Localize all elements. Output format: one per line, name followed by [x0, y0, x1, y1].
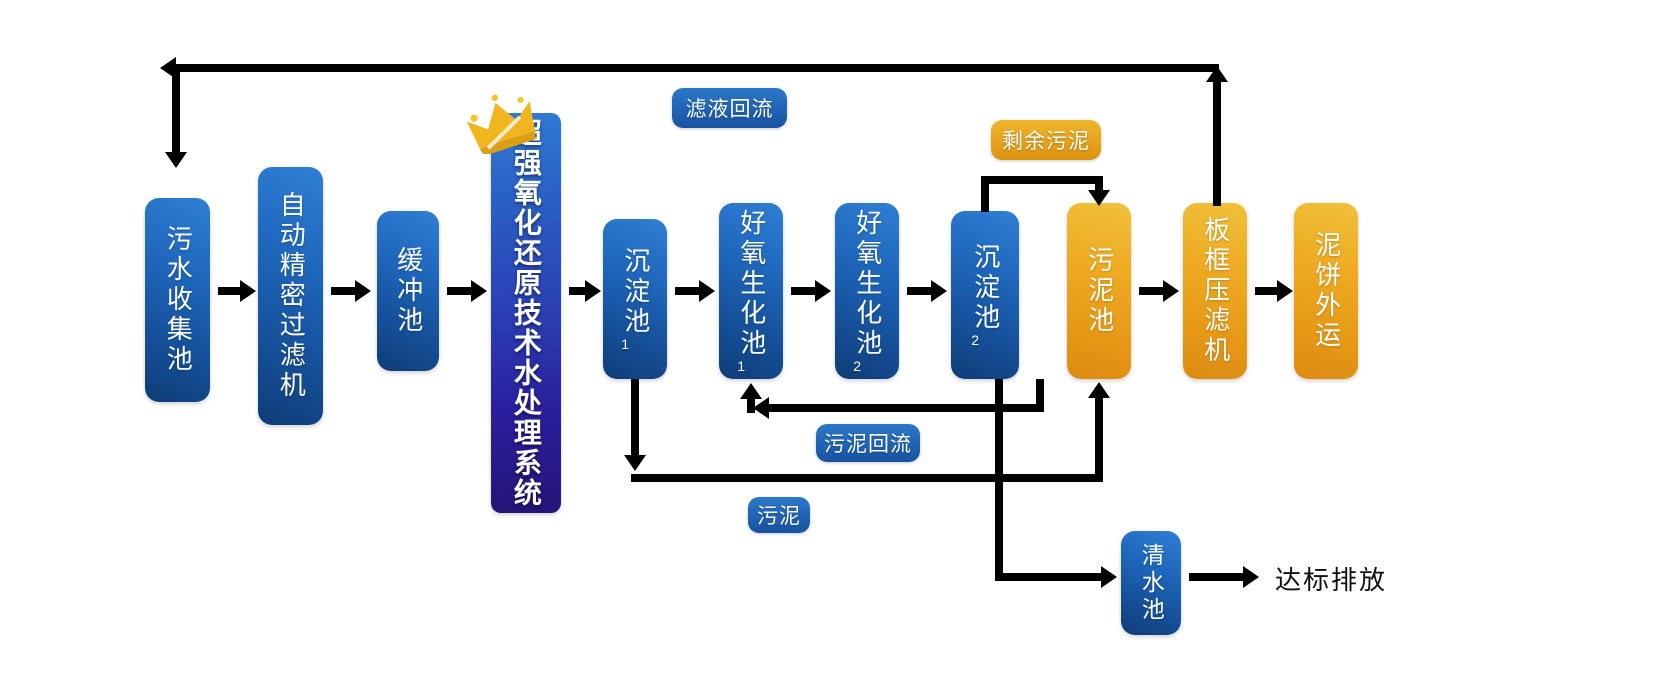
connector-7-8-arrowhead — [931, 280, 947, 302]
excess-sludge-arrowhead — [1088, 190, 1110, 206]
connector-9-10-arrowhead — [1163, 280, 1179, 302]
node-aerobic-biochemical-tank-2-label: 好氧生化池2 — [853, 209, 881, 374]
node-sewage-collection-tank-label: 污水收集池 — [164, 225, 192, 375]
sludge-riser-arrowhead — [1088, 382, 1110, 398]
node-aerobic-biochemical-tank-2-name: 好氧生化池 — [853, 209, 883, 359]
connector-10-11 — [1255, 287, 1279, 295]
label-filtrate-return-text: 滤液回流 — [686, 93, 774, 123]
connector-2-3 — [331, 287, 357, 295]
node-sedimentation-tank-1-name: 沉淀池 — [621, 247, 651, 337]
node-sedimentation-tank-2[interactable]: 沉淀池2 — [951, 211, 1019, 379]
crown-icon — [462, 92, 548, 154]
node-sedimentation-tank-2-label: 沉淀池2 — [971, 243, 999, 348]
discharge-connector — [1189, 573, 1245, 581]
node-sludge-tank-label: 污泥池 — [1085, 246, 1113, 336]
node-sedimentation-tank-1-subscript: 1 — [621, 337, 629, 352]
node-auto-precision-filter-label: 自动精密过滤机 — [277, 191, 305, 401]
sludge-return-left-arrowhead — [753, 397, 769, 419]
label-sludge-return: 污泥回流 — [816, 424, 920, 462]
connector-10-11-arrowhead — [1277, 280, 1293, 302]
label-excess-sludge: 剩余污泥 — [991, 120, 1101, 160]
node-aerobic-biochemical-tank-1-name: 好氧生化池 — [737, 209, 767, 359]
connector-6-7-arrowhead — [815, 280, 831, 302]
node-sedimentation-tank-2-name: 沉淀池 — [971, 243, 1001, 333]
node-aerobic-biochemical-tank-2[interactable]: 好氧生化池2 — [835, 203, 899, 379]
filtrate-return-left-arrowhead — [160, 57, 176, 79]
node-buffer-tank[interactable]: 缓冲池 — [377, 211, 439, 371]
clearwater-horizontal — [995, 573, 1107, 581]
node-sedimentation-tank-1[interactable]: 沉淀池1 — [603, 219, 667, 379]
label-sludge: 污泥 — [748, 497, 810, 533]
node-aerobic-biochemical-tank-1-label: 好氧生化池1 — [737, 209, 765, 374]
node-clean-water-tank[interactable]: 清水池 — [1121, 531, 1181, 635]
clearwater-arrowhead — [1101, 566, 1117, 588]
label-sludge-return-text: 污泥回流 — [824, 428, 912, 458]
filtrate-return-down-arrowhead — [165, 152, 187, 168]
node-clean-water-tank-label: 清水池 — [1139, 543, 1163, 624]
node-aerobic-biochemical-tank-1-subscript: 1 — [737, 359, 745, 374]
sludge-return-up-arrowhead — [740, 383, 762, 399]
label-filtrate-return: 滤液回流 — [672, 88, 787, 128]
node-plate-frame-filter-press-label: 板框压滤机 — [1201, 216, 1229, 366]
node-mud-cake-transport[interactable]: 泥饼外运 — [1294, 203, 1358, 379]
connector-2-3-arrowhead — [355, 280, 371, 302]
flowchart-canvas: 滤液回流 剩余污泥 污水收集池 自动精密过滤机 缓冲池 超强氧化还原技术水处理系… — [0, 0, 1655, 689]
node-aerobic-biochemical-tank-1[interactable]: 好氧生化池1 — [719, 203, 783, 379]
label-sludge-text: 污泥 — [757, 500, 801, 530]
sludge-drop-from-sed1 — [631, 379, 639, 461]
node-super-oxidation-reduction-system[interactable]: 超强氧化还原技术水处理系统 — [491, 113, 561, 513]
node-sludge-tank[interactable]: 污泥池 — [1067, 203, 1131, 379]
discharge-label: 达标排放 — [1275, 560, 1387, 597]
discharge-arrowhead — [1243, 566, 1259, 588]
connector-1-2 — [218, 287, 242, 295]
sludge-riser-to-tank — [1095, 394, 1103, 482]
connector-9-10 — [1139, 287, 1165, 295]
press-filter-up-line — [1213, 76, 1221, 206]
node-sedimentation-tank-1-label: 沉淀池1 — [621, 247, 649, 352]
press-filter-up-arrowhead — [1206, 66, 1228, 82]
node-auto-precision-filter[interactable]: 自动精密过滤机 — [258, 167, 323, 425]
connector-6-7 — [791, 287, 817, 295]
connector-3-4 — [447, 287, 473, 295]
node-mud-cake-transport-label: 泥饼外运 — [1312, 231, 1340, 351]
node-aerobic-biochemical-tank-2-subscript: 2 — [853, 359, 861, 374]
node-super-oxidation-reduction-system-label: 超强氧化还原技术水处理系统 — [511, 118, 541, 508]
sludge-drop-arrowhead — [624, 455, 646, 471]
clearwater-down-line — [995, 379, 1003, 581]
node-plate-frame-filter-press[interactable]: 板框压滤机 — [1183, 203, 1247, 379]
filtrate-return-top-line — [175, 64, 1219, 72]
excess-sludge-top-line — [981, 176, 1103, 184]
connector-5-6 — [675, 287, 701, 295]
node-buffer-tank-label: 缓冲池 — [394, 246, 422, 336]
connector-5-6-arrowhead — [699, 280, 715, 302]
sludge-bottom-line — [631, 474, 1103, 482]
connector-3-4-arrowhead — [471, 280, 487, 302]
connector-4-5-arrowhead — [585, 280, 601, 302]
connector-7-8 — [907, 287, 933, 295]
label-excess-sludge-text: 剩余污泥 — [1002, 125, 1090, 155]
node-sedimentation-tank-2-subscript: 2 — [971, 333, 979, 348]
node-sewage-collection-tank[interactable]: 污水收集池 — [145, 198, 210, 402]
connector-1-2-arrowhead — [240, 280, 256, 302]
